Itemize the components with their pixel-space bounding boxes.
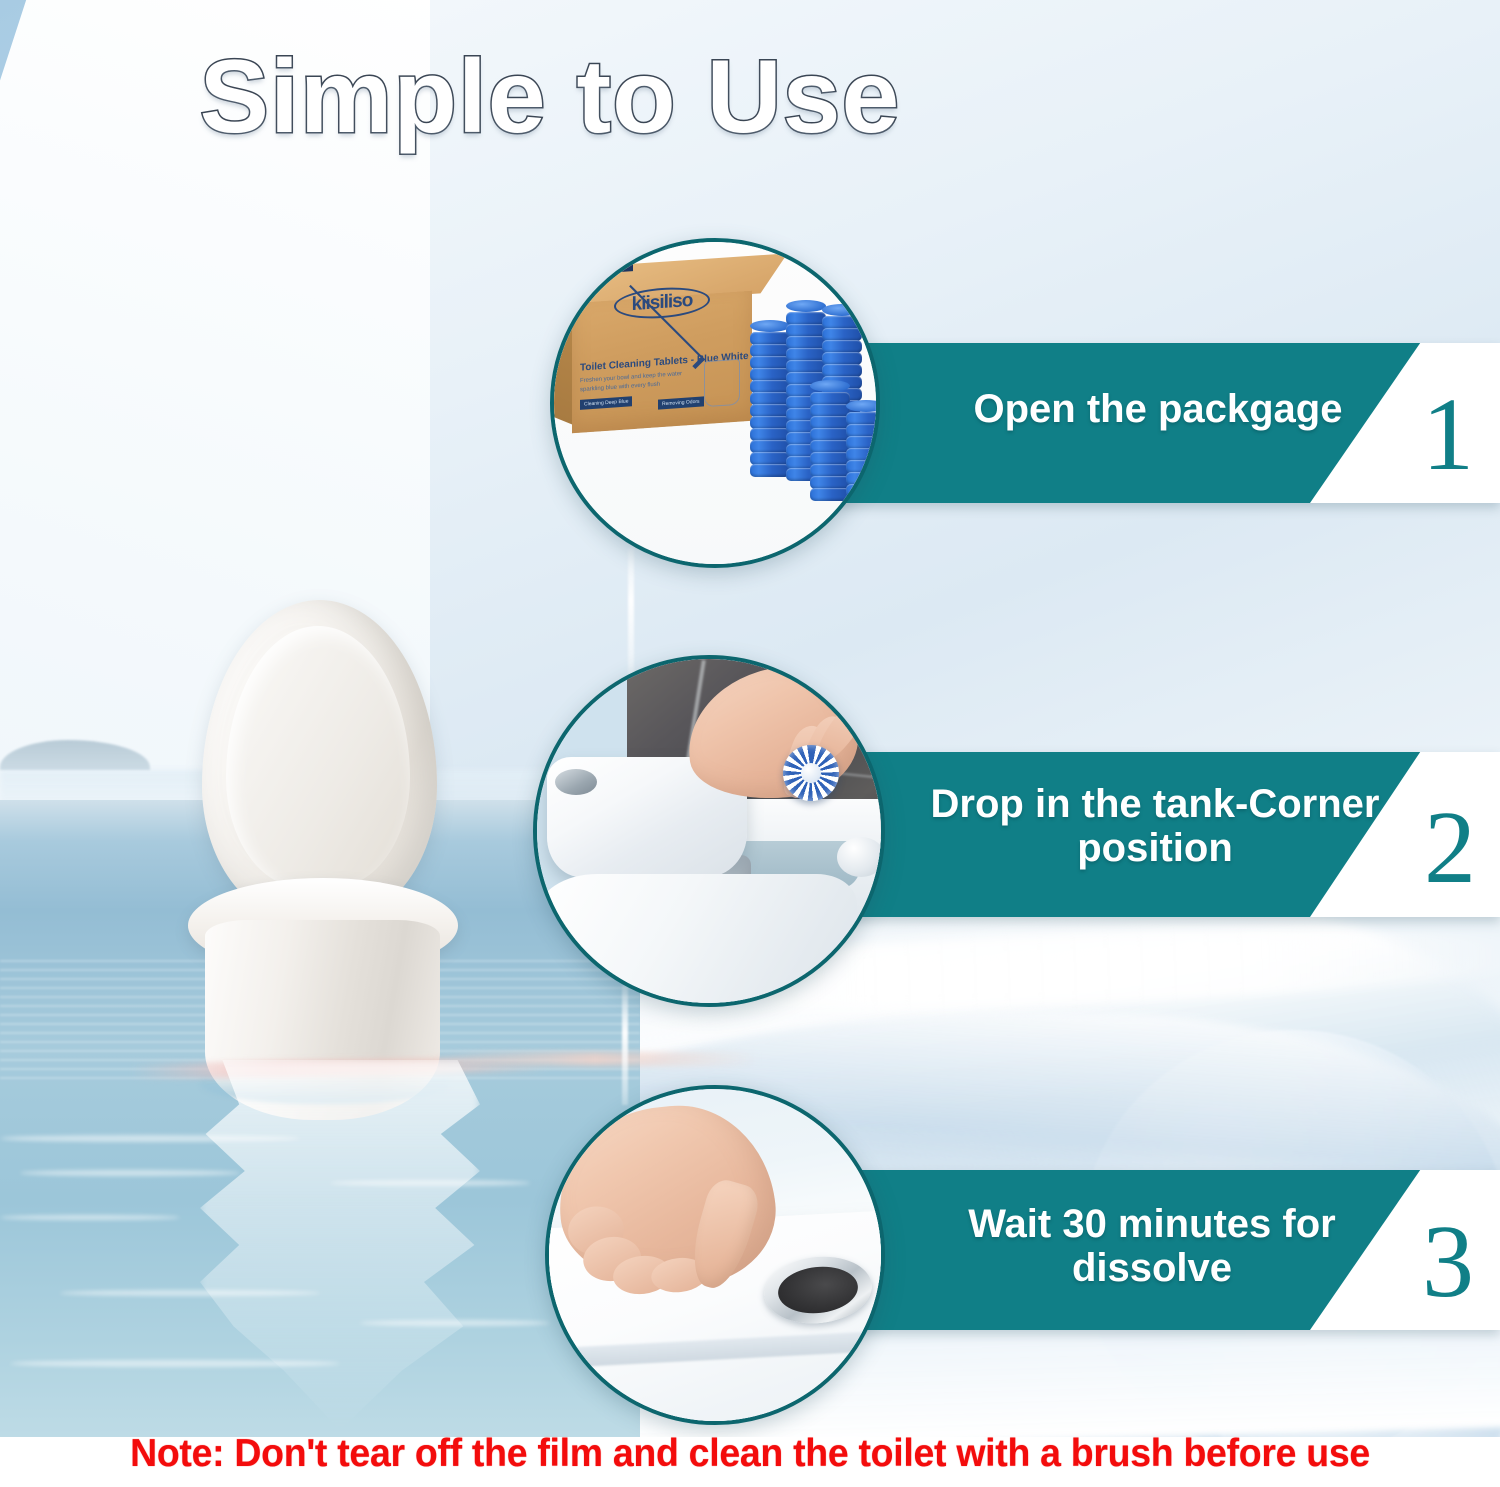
flush-button-inner <box>776 1263 860 1317</box>
page-title: Simple to Use <box>0 38 1100 157</box>
step-3-number: 3 <box>1422 1210 1474 1314</box>
blue-white-tablet-icon <box>783 745 839 801</box>
scene-press-flush <box>549 1089 881 1421</box>
tablet-stack-5 <box>846 400 880 508</box>
step-2-label: Drop in the tank-Corner position <box>900 782 1410 870</box>
scene-drop-tablet <box>537 659 881 1003</box>
background-toilet <box>180 600 480 1070</box>
toilet-bowl-front <box>537 874 857 1007</box>
toilet-tank-float-ball <box>837 837 885 877</box>
step-1-number: 1 <box>1422 383 1474 487</box>
step-1-image: 60 PACKS kiisiliso Toilet Cleaning Table… <box>550 238 880 568</box>
step-2-number: 2 <box>1424 796 1476 900</box>
toilet-flush-button <box>555 769 597 795</box>
tablet-stack-1 <box>750 320 790 476</box>
tablet-stack-4 <box>810 380 850 500</box>
scene-product-box: 60 PACKS kiisiliso Toilet Cleaning Table… <box>554 242 876 564</box>
step-2-image <box>533 655 885 1007</box>
step-1-label: Open the packgage <box>928 387 1388 431</box>
step-3-image <box>545 1085 885 1425</box>
connector-line-2-3 <box>622 985 628 1105</box>
toilet-pictogram-icon <box>704 359 740 408</box>
infographic-canvas: Simple to Use Open the packgage 1 60 PAC… <box>0 0 1500 1487</box>
step-3-label: Wait 30 minutes for dissolve <box>912 1202 1392 1290</box>
note-text: Note: Don't tear off the film and clean … <box>30 1432 1470 1476</box>
background-rocks <box>0 855 180 995</box>
background-pink-band-2 <box>430 1052 760 1066</box>
tablet-core <box>801 763 821 783</box>
